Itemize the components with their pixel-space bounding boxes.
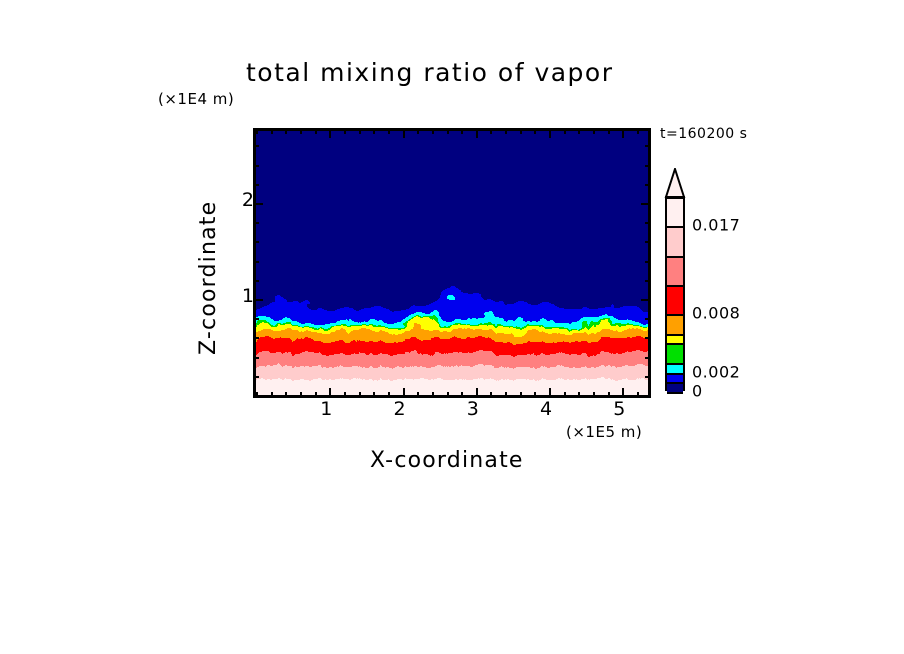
chart-title: total mixing ratio of vapor (246, 58, 614, 87)
x-tick-top (417, 128, 419, 134)
colorbar-segment (667, 344, 683, 364)
y-tick-right (645, 184, 651, 186)
x-tick-top (447, 128, 449, 134)
y-tick-right (645, 376, 651, 378)
y-tick-label: 1 (242, 285, 254, 307)
y-tick (253, 376, 259, 378)
y-tick-right (641, 203, 651, 205)
y-tick (253, 145, 259, 147)
x-tick (417, 392, 419, 398)
x-tick-label: 3 (467, 398, 479, 420)
colorbar[interactable] (665, 196, 685, 391)
x-tick-top (520, 128, 522, 134)
colorbar-segment (667, 227, 683, 256)
x-tick (359, 392, 361, 398)
x-tick-top (549, 128, 551, 138)
colorbar-tick-label: 0 (692, 382, 703, 401)
x-tick (447, 392, 449, 398)
colorbar-divider (667, 363, 683, 365)
x-tick (622, 388, 624, 398)
x-tick (403, 388, 405, 398)
x-tick (637, 392, 639, 398)
y-tick (253, 337, 259, 339)
x-tick-top (564, 128, 566, 134)
x-axis-title: X-coordinate (370, 448, 524, 473)
x-tick-top (271, 128, 273, 134)
y-tick (253, 222, 259, 224)
colorbar-divider (667, 197, 683, 199)
colorbar-tick-label: 0.017 (692, 216, 740, 235)
x-tick-top (490, 128, 492, 134)
x-tick-label: 4 (540, 398, 552, 420)
x-tick-label: 2 (393, 398, 405, 420)
x-tick (344, 392, 346, 398)
y-tick-right (645, 241, 651, 243)
x-tick-top (285, 128, 287, 134)
timestamp-label: t=160200 s (660, 126, 747, 142)
x-tick-top (403, 128, 405, 138)
x-tick-top (637, 128, 639, 134)
y-tick (253, 395, 259, 397)
x-tick-top (300, 128, 302, 134)
colorbar-divider (667, 382, 683, 384)
x-tick (578, 392, 580, 398)
colorbar-divider (667, 334, 683, 336)
x-tick-top (593, 128, 595, 134)
y-tick-right (645, 165, 651, 167)
x-tick-top (608, 128, 610, 134)
x-tick-top (578, 128, 580, 134)
x-tick (564, 392, 566, 398)
figure-canvas: total mixing ratio of vapor (×1E4 m) t=1… (0, 0, 904, 654)
colorbar-segment (667, 198, 683, 227)
y-tick (253, 261, 259, 263)
y-tick-label: 2 (242, 189, 254, 211)
x-tick-top (461, 128, 463, 134)
x-tick (520, 392, 522, 398)
plot-area (253, 128, 651, 398)
x-tick-top (534, 128, 536, 134)
y-tick-right (645, 357, 651, 359)
x-tick-top (344, 128, 346, 134)
colorbar-divider (667, 285, 683, 287)
contour-field (256, 131, 648, 395)
colorbar-divider (667, 256, 683, 258)
y-tick (253, 280, 259, 282)
colorbar-divider (667, 314, 683, 316)
x-tick (271, 392, 273, 398)
x-tick (388, 392, 390, 398)
x-tick (432, 392, 434, 398)
y-tick (253, 318, 259, 320)
y-tick (253, 299, 263, 301)
x-tick-top (256, 128, 258, 134)
colorbar-tick-label: 0.002 (692, 362, 740, 381)
x-tick-top (388, 128, 390, 134)
x-tick (329, 388, 331, 398)
x-tick-label: 1 (320, 398, 332, 420)
colorbar-segment (667, 257, 683, 286)
y-tick (253, 357, 259, 359)
colorbar-tick-label: 0.008 (692, 304, 740, 323)
y-tick-right (645, 261, 651, 263)
x-axis-unit-label: (×1E5 m) (566, 423, 642, 441)
y-tick (253, 241, 259, 243)
x-tick-top (359, 128, 361, 134)
x-tick-top (373, 128, 375, 134)
x-tick (490, 392, 492, 398)
x-tick (534, 392, 536, 398)
x-tick-label: 5 (613, 398, 625, 420)
y-tick-right (645, 318, 651, 320)
y-tick-right (645, 280, 651, 282)
colorbar-segment (667, 286, 683, 315)
y-tick-right (645, 337, 651, 339)
x-tick (593, 392, 595, 398)
x-tick (373, 392, 375, 398)
y-tick-right (645, 222, 651, 224)
colorbar-divider (667, 343, 683, 345)
x-tick (608, 392, 610, 398)
x-tick-top (432, 128, 434, 134)
colorbar-extend-arrow (663, 168, 687, 198)
x-tick (476, 388, 478, 398)
colorbar-divider (667, 392, 683, 394)
y-tick-right (645, 395, 651, 397)
x-tick (505, 392, 507, 398)
y-tick (253, 184, 259, 186)
x-tick-top (622, 128, 624, 138)
y-tick (253, 165, 259, 167)
y-axis-title: Z-coordinate (196, 201, 221, 355)
colorbar-divider (667, 373, 683, 375)
x-tick-top (329, 128, 331, 138)
x-tick (315, 392, 317, 398)
x-tick (461, 392, 463, 398)
y-tick (253, 203, 263, 205)
x-tick-top (505, 128, 507, 134)
y-tick-right (645, 145, 651, 147)
x-tick (549, 388, 551, 398)
x-tick-top (476, 128, 478, 138)
y-tick-right (641, 299, 651, 301)
x-tick (285, 392, 287, 398)
x-tick (300, 392, 302, 398)
x-tick-top (315, 128, 317, 134)
y-axis-unit-label: (×1E4 m) (158, 90, 234, 108)
colorbar-segment (667, 315, 683, 335)
colorbar-divider (667, 226, 683, 228)
